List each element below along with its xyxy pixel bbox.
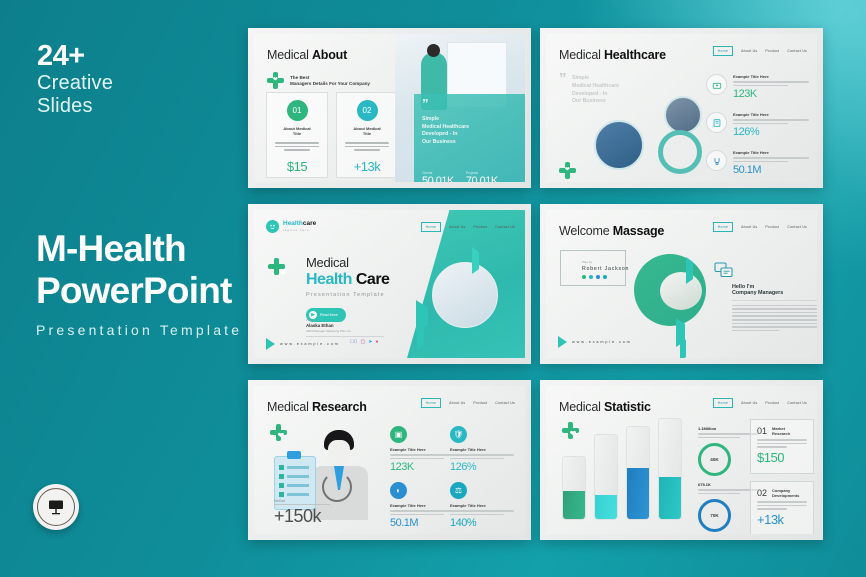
slide-thumb-cover-health-care[interactable]: Healthcare tagline here Home About Us Pr… <box>248 204 531 364</box>
nav-item-about-us[interactable]: About Us <box>449 401 465 405</box>
stat-value: 140% <box>450 517 514 529</box>
play-triangle-icon <box>472 252 479 270</box>
author-logo-badge <box>33 484 79 530</box>
stat-body-placeholder <box>450 454 514 459</box>
stat-value: 50.1M <box>733 164 809 176</box>
card-value: +13k <box>354 159 381 174</box>
clipboard-icon: ▣ <box>390 426 407 443</box>
stat-title: Example Title Here <box>450 503 514 508</box>
author-block: Plan by Alaska Ethan CEO/Manager Marketi… <box>306 318 384 337</box>
title-light: Medical <box>559 400 601 414</box>
stethoscope-icon <box>706 150 727 171</box>
healthcare-stat: Example Title Here 126% <box>706 112 809 138</box>
slide-title-welcome-massage: Welcome Massage <box>559 224 664 238</box>
medical-cross-icon: ❤ <box>267 72 284 89</box>
about-card[interactable]: 02 About Medical Title +13k <box>336 92 398 178</box>
promo-panel: 24+ Creative Slides M-Health PowerPoint … <box>0 0 250 577</box>
surgery-photo-small <box>664 96 702 134</box>
donut-value: 40K <box>710 457 718 462</box>
brand-name-light: Health <box>283 220 303 227</box>
research-total-value: +150k <box>274 506 330 527</box>
medical-cross-icon: ❤ <box>559 162 576 179</box>
card-title-line2: Title <box>363 131 371 136</box>
card-number-badge: 02 <box>357 100 378 121</box>
card-body-placeholder <box>345 140 389 153</box>
donut-body-placeholder <box>698 489 758 494</box>
card-number: 01 <box>757 426 767 436</box>
play-triangle-icon <box>686 262 693 280</box>
donut-stat: 1.1Million 40K <box>698 426 758 476</box>
cover-subtitle: Presentation Template <box>306 292 389 298</box>
card-body-placeholder <box>757 439 807 448</box>
card-number: 02 <box>757 488 767 498</box>
cover-headline-care: Care <box>356 271 390 288</box>
card-body-placeholder <box>275 140 319 153</box>
slide-nav[interactable]: Home About Us Product Contact Us <box>713 398 807 408</box>
author-label: Plan by <box>306 318 384 322</box>
facebook-icon[interactable]: 𝑓 <box>350 339 358 345</box>
card-value: $150 <box>757 450 807 465</box>
product-title-line1: M-Health <box>36 228 242 270</box>
stat-body-placeholder <box>390 510 454 515</box>
slide-title-medical-research: Medical Research <box>267 400 367 414</box>
nav-item-product[interactable]: Product <box>765 401 779 405</box>
stat-title: Example Title Here <box>733 74 809 79</box>
overlay-stat: Projects 70.01K <box>466 171 498 182</box>
overlay-stat: Clients 50.01K <box>422 171 454 182</box>
color-dot-row <box>582 275 629 279</box>
title-bold: Massage <box>613 224 664 238</box>
decorative-ring <box>658 130 702 174</box>
website-url[interactable]: w w w . e x a m p l e . c o m <box>572 340 630 344</box>
play-triangle-icon <box>558 336 567 348</box>
brand-name: Healthcare <box>283 221 316 228</box>
nav-item-contact-us[interactable]: Contact Us <box>787 49 807 53</box>
stat-body-placeholder <box>733 157 809 162</box>
card-value: +13k <box>757 512 807 527</box>
slide-nav[interactable]: Home About Us Product Contact Us <box>421 222 515 232</box>
website-row[interactable]: w w w . e x a m p l e . c o m <box>266 338 338 350</box>
presentation-board-icon <box>37 488 75 526</box>
research-stat: ◐ Example Title Here 50.1M <box>390 482 454 529</box>
quote-block: ” <box>559 74 567 83</box>
card-body-placeholder <box>757 501 807 510</box>
slide-title-medical-statistic: Medical Statistic <box>559 400 651 414</box>
bottle-bar <box>658 418 682 520</box>
quote-line: Medical Healthcare <box>422 124 469 132</box>
donut-stat: 675.1K 70K <box>698 482 758 532</box>
stat-body-placeholder <box>733 81 809 86</box>
stat-title: Example Title Here <box>390 447 454 452</box>
quote-mark: ” <box>422 99 429 109</box>
clipboard-lines <box>279 465 309 497</box>
quote-line: Simple <box>572 75 619 83</box>
donut-chart: 70K <box>698 499 731 532</box>
brand-name-bold: care <box>303 220 316 227</box>
clinic-photo: ” Simple Medical Healthcare Developed - … <box>395 34 525 182</box>
statistic-card[interactable]: 02 Company Developments +13k <box>750 481 814 534</box>
nav-item-home[interactable]: Home <box>421 398 441 408</box>
website-url[interactable]: w w w . e x a m p l e . c o m <box>280 342 338 346</box>
stat-value: 123K <box>733 88 809 100</box>
nav-item-contact-us[interactable]: Contact Us <box>787 401 807 405</box>
tagline-line1: The Best <box>290 75 370 80</box>
slide-count-badge: 24+ Creative Slides <box>37 40 113 117</box>
card-title-line2: Title <box>293 131 301 136</box>
title-light: Medical <box>267 48 309 62</box>
cover-headline-line1: Medical <box>306 255 389 270</box>
slide-thumb-medical-statistic[interactable]: Medical Statistic Home About Us Product … <box>540 380 823 540</box>
stat-value: 126% <box>450 461 514 473</box>
brand-tagline: tagline here <box>283 228 316 232</box>
card-number-badge: 01 <box>287 100 308 121</box>
research-stat: ▣ Example Title Here 123K <box>390 426 454 473</box>
research-stat: ⚖ Example Title Here 140% <box>450 482 514 529</box>
play-triangle-icon <box>266 338 275 350</box>
play-triangle-icon <box>417 328 424 346</box>
nav-item-about-us[interactable]: About Us <box>449 225 465 229</box>
message-line2: Company Managers <box>732 290 817 296</box>
mri-photo <box>432 262 498 328</box>
title-light: Medical <box>267 400 309 414</box>
lab-icon: ⚖ <box>450 482 467 499</box>
research-total: Medical +150k <box>274 499 330 527</box>
nav-item-product[interactable]: Product <box>765 225 779 229</box>
slide-thumb-medical-research[interactable]: Medical Research Home About Us Product C… <box>248 380 531 540</box>
stat-title: Example Title Here <box>733 150 809 155</box>
stat-title: Example Title Here <box>450 447 514 452</box>
slide-nav[interactable]: Home About Us Product Contact Us <box>713 46 807 56</box>
stat-value: 123K <box>390 461 454 473</box>
shield-icon: 🛡 <box>450 426 467 443</box>
doctor-photo-circle <box>634 254 706 326</box>
stat-value: 50.1M <box>390 517 454 529</box>
healthcare-stat: Example Title Here 50.1M <box>706 150 809 176</box>
stat-body-placeholder <box>390 454 454 459</box>
stat-body-placeholder <box>733 119 809 124</box>
nav-item-contact-us[interactable]: Contact Us <box>495 225 515 229</box>
quote-line: Simple <box>422 116 469 124</box>
card-title-line2: Research <box>772 431 790 436</box>
message-body-placeholder <box>732 305 817 332</box>
medical-cross-icon: ❤ <box>562 422 584 444</box>
slide-title-medical-about: Medical About <box>267 48 347 62</box>
product-title-line2: PowerPoint <box>36 270 242 312</box>
slide-nav[interactable]: Home About Us Product Contact Us <box>713 222 807 232</box>
quote-text: Simple Medical Healthcare Developed - In… <box>572 75 619 106</box>
author-block: Plan by Robert Jackson <box>582 260 629 279</box>
chat-bubbles-icon <box>714 262 732 278</box>
card-value: $15 <box>287 159 307 174</box>
title-bold: Healthcare <box>604 48 666 62</box>
slide-count-creative-label: Creative <box>37 72 113 94</box>
author-name: Alaska Ethan <box>306 323 384 328</box>
title-bold: Statistic <box>604 400 651 414</box>
healthcare-stat: Example Title Here 123K <box>706 74 809 100</box>
overlay-stat-list: Clients 50.01K Projects 70.01K <box>422 171 498 182</box>
nav-item-about-us[interactable]: About Us <box>741 225 757 229</box>
quote-line: Developed - In <box>422 131 469 139</box>
medical-cross-icon: ❤ <box>270 424 292 446</box>
title-bold: Research <box>312 400 367 414</box>
instagram-icon[interactable]: ▢ <box>361 339 366 345</box>
slide-nav[interactable]: Home About Us Product Contact Us <box>421 398 515 408</box>
slide-count-number: 24+ <box>37 40 113 72</box>
product-subtitle: Presentation Template <box>36 322 242 338</box>
title-light: Welcome <box>559 224 609 238</box>
product-title: M-Health PowerPoint Presentation Templat… <box>36 228 242 338</box>
author-name: Robert Jackson <box>582 266 629 272</box>
play-triangle-icon <box>680 340 686 358</box>
bottle-bar <box>626 426 650 520</box>
donut-body-placeholder <box>698 433 758 438</box>
research-total-label: Medical <box>274 499 330 503</box>
nav-item-about-us[interactable]: About Us <box>741 401 757 405</box>
website-row[interactable]: w w w . e x a m p l e . c o m <box>558 336 630 348</box>
tagline-row: ❤ The Best Managers Details For Your Com… <box>267 72 370 89</box>
slide-thumb-medical-healthcare[interactable]: Medical Healthcare Home About Us Product… <box>540 28 823 188</box>
about-card-list: 01 About Medical Title $15 02 About Medi… <box>266 92 398 178</box>
stat-value: 126% <box>733 126 809 138</box>
donut-chart: 40K <box>698 443 731 476</box>
quote-line: Our Business <box>572 98 619 106</box>
cover-headline: Medical Health Care Presentation Templat… <box>306 255 389 322</box>
stat-title: Example Title Here <box>733 112 809 117</box>
stat-body-placeholder <box>450 510 514 515</box>
author-role: CEO/Manager Marketing Plan Co. <box>306 329 384 333</box>
twitter-icon[interactable]: ➤ <box>368 339 372 345</box>
author-label: Plan by <box>582 260 629 264</box>
cover-headline-health: Health <box>306 271 352 288</box>
nav-item-home[interactable]: Home <box>713 46 733 56</box>
stat-title: Example Title Here <box>390 503 454 508</box>
quote-overlay: ” Simple Medical Healthcare Developed - … <box>414 94 525 182</box>
brand-logo[interactable]: Healthcare tagline here <box>266 220 316 233</box>
research-stat: 🛡 Example Title Here 126% <box>450 426 514 473</box>
title-light: Medical <box>559 48 601 62</box>
medical-report-icon <box>706 112 727 133</box>
bottle-bar <box>594 434 618 520</box>
nav-item-home[interactable]: Home <box>421 222 441 232</box>
tagline-line2: Managers Details For Your Company <box>290 81 370 86</box>
welcome-message: Hello I'm Company Managers <box>732 284 817 333</box>
nav-item-product[interactable]: Product <box>765 49 779 53</box>
slide-thumbnail-grid: Medical About ❤ The Best Managers Detail… <box>248 28 844 548</box>
quote-line: Our Business <box>422 139 469 147</box>
medical-cross-icon: ❤ <box>268 258 298 288</box>
nav-item-product[interactable]: Product <box>473 225 487 229</box>
quote-line: Developed - In <box>572 91 619 99</box>
social-icon-row[interactable]: 𝑓 ▢ ➤ ● <box>350 339 378 345</box>
surgery-photo-large <box>594 120 644 170</box>
nav-item-about-us[interactable]: About Us <box>741 49 757 53</box>
bottle-bar <box>562 456 586 520</box>
overlay-stat-value: 70.01K <box>466 175 498 182</box>
statistic-card[interactable]: 01 Market Research $150 <box>750 419 814 474</box>
slide-count-slides-label: Slides <box>37 95 113 117</box>
donut-value: 70K <box>710 513 718 518</box>
nav-item-home[interactable]: Home <box>713 398 733 408</box>
quote-mark: ” <box>559 74 567 83</box>
quote-line: Medical Healthcare <box>572 83 619 91</box>
about-card[interactable]: 01 About Medical Title $15 <box>266 92 328 178</box>
donut-label: 1.1Million <box>698 426 758 431</box>
read-more-label: Read More <box>320 313 338 317</box>
donut-label: 675.1K <box>698 482 758 487</box>
cover-headline-line2: Health Care <box>306 271 389 289</box>
card-title-line2: Developments <box>772 493 799 498</box>
logo-mark-icon <box>266 220 279 233</box>
brain-icon: ◐ <box>390 482 407 499</box>
nav-item-contact-us[interactable]: Contact Us <box>495 401 515 405</box>
slide-thumb-medical-about[interactable]: Medical About ❤ The Best Managers Detail… <box>248 28 531 188</box>
slide-thumb-welcome-massage[interactable]: Welcome Massage Home About Us Product Co… <box>540 204 823 364</box>
quote-text: Simple Medical Healthcare Developed - In… <box>422 116 469 146</box>
nav-item-home[interactable]: Home <box>713 222 733 232</box>
nav-item-product[interactable]: Product <box>473 401 487 405</box>
nav-item-contact-us[interactable]: Contact Us <box>787 225 807 229</box>
hospital-icon <box>706 74 727 95</box>
overlay-stat-value: 50.01K <box>422 175 454 182</box>
dribbble-icon[interactable]: ● <box>375 339 378 345</box>
slide-title-medical-healthcare: Medical Healthcare <box>559 48 666 62</box>
title-bold: About <box>312 48 347 62</box>
